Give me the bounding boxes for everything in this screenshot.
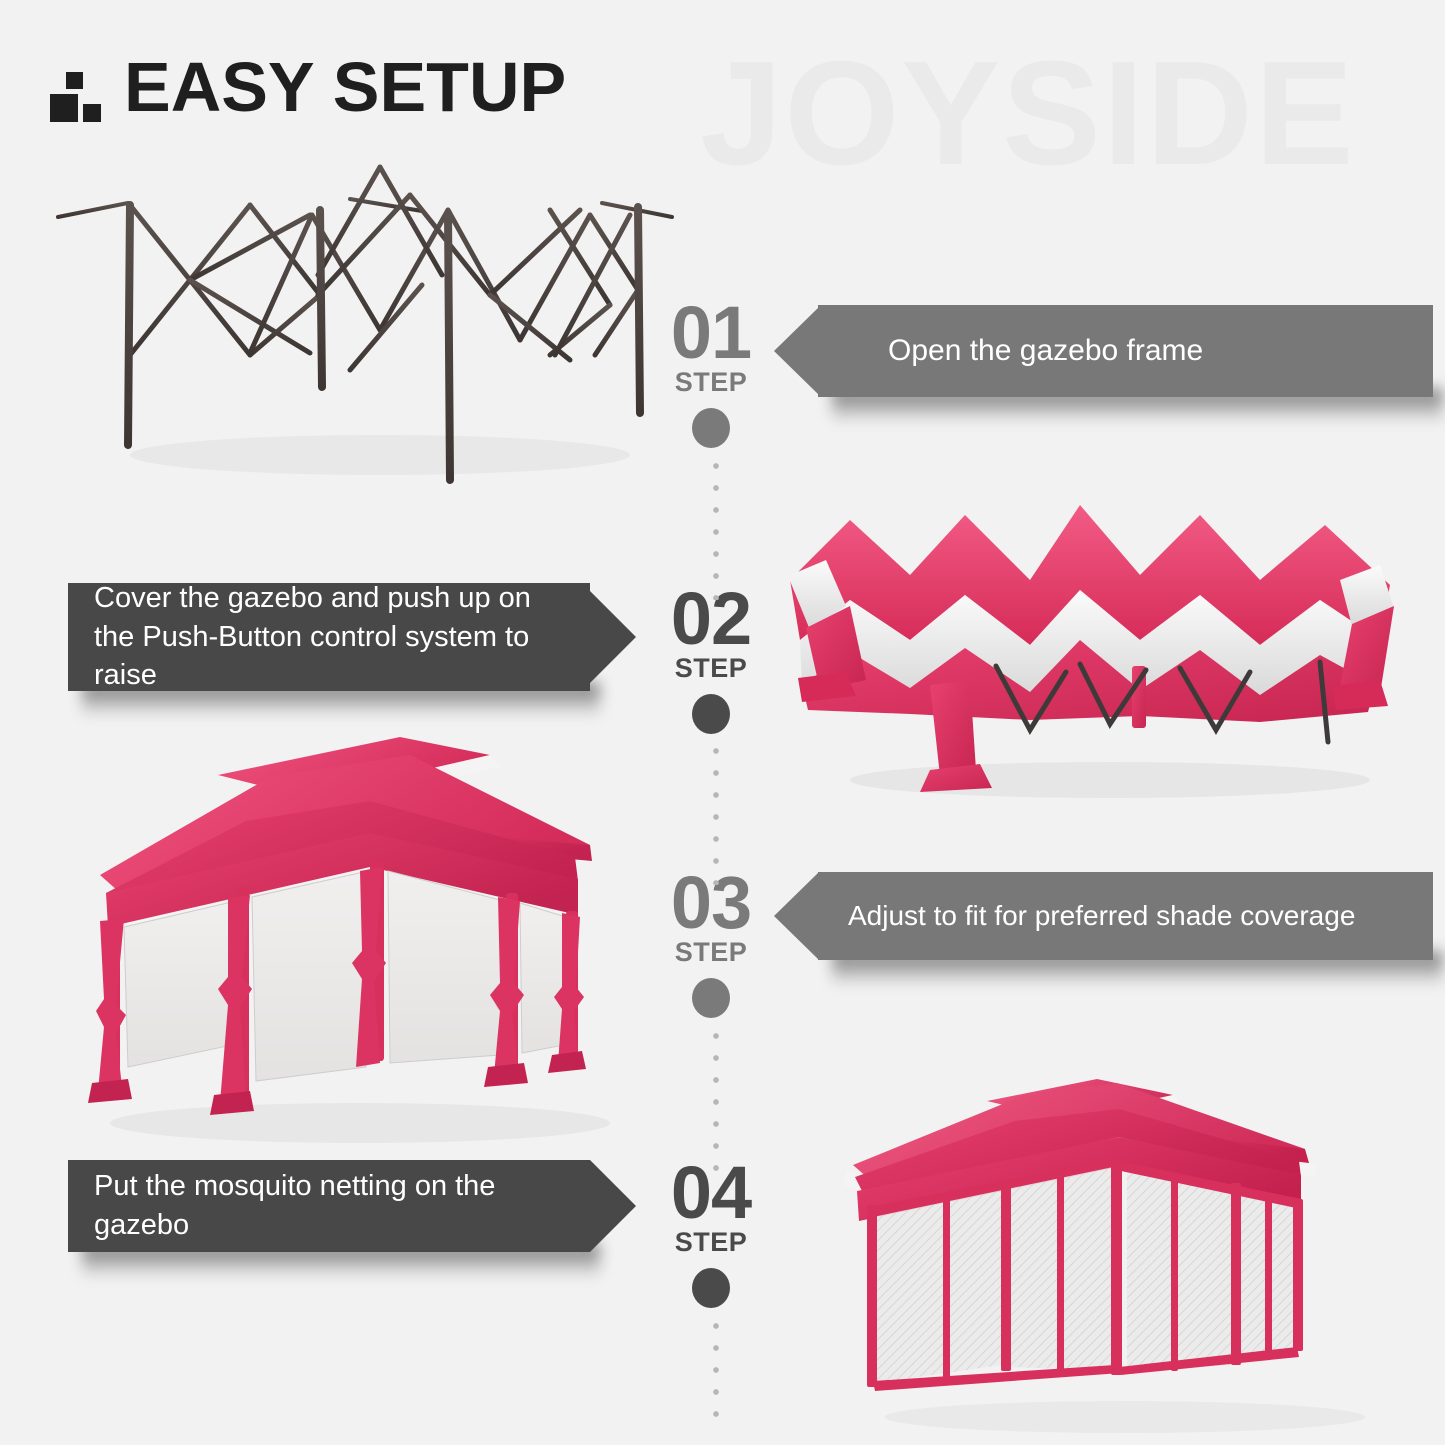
callout-arrow-left-icon [774, 872, 819, 960]
photo-gazebo-draped [780, 480, 1400, 800]
callout-arrow-right-icon [590, 1160, 636, 1252]
photo-gazebo-frame [50, 155, 680, 485]
callout-text: Put the mosquito netting on the gazebo [94, 1167, 570, 1245]
callout-step-01: Open the gazebo frame [818, 305, 1433, 397]
step-number: 01 [631, 300, 791, 365]
photo-gazebo-netted [835, 1065, 1405, 1445]
callout-step-03: Adjust to fit for preferred shade covera… [818, 872, 1433, 960]
timeline-segment [711, 455, 721, 600]
callout-step-04: Put the mosquito netting on the gazebo [68, 1160, 590, 1252]
infographic-stage: JOYSIDE EASY SETUP [0, 0, 1445, 1445]
callout-arrow-left-icon [774, 307, 819, 395]
callout-text: Open the gazebo frame [888, 331, 1433, 371]
callout-text: Cover the gazebo and push up on the Push… [94, 579, 566, 696]
page-title: EASY SETUP [50, 52, 566, 122]
timeline-segment [711, 1025, 721, 1175]
timeline-connector [711, 420, 721, 1430]
callout-step-02: Cover the gazebo and push up on the Push… [68, 583, 590, 691]
callout-text: Adjust to fit for preferred shade covera… [848, 897, 1433, 935]
three-squares-logo-icon [50, 66, 102, 122]
photo-gazebo-raised [70, 715, 640, 1165]
page-title-text: EASY SETUP [124, 52, 566, 122]
brand-watermark: JOYSIDE [700, 40, 1356, 188]
timeline-segment [711, 1315, 721, 1430]
step-word: STEP [631, 367, 791, 398]
timeline-segment [711, 740, 721, 885]
callout-arrow-right-icon [590, 591, 636, 683]
